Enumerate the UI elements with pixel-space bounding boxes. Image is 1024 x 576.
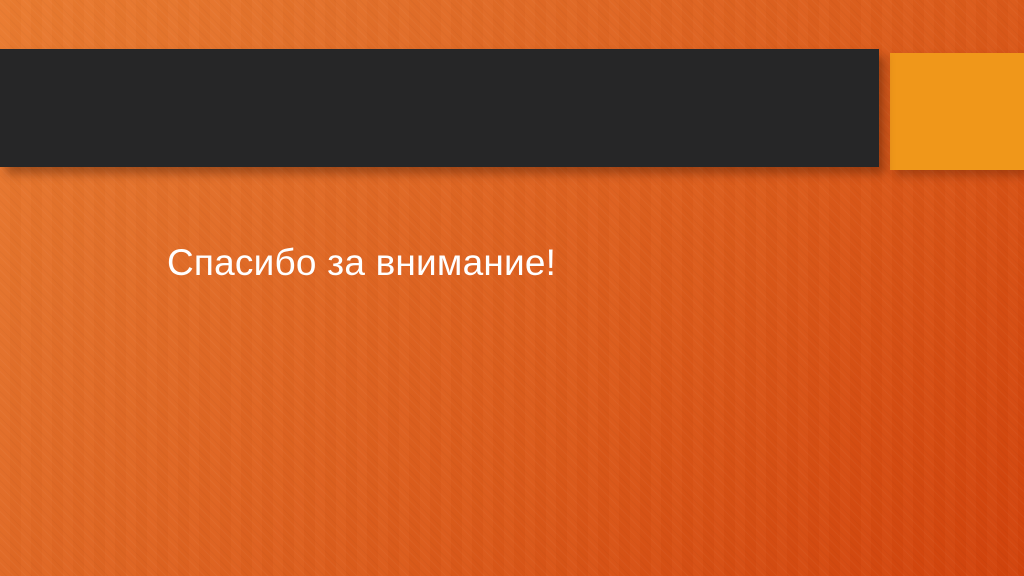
presentation-slide: Спасибо за внимание! xyxy=(0,0,1024,576)
dark-banner-bar xyxy=(0,49,879,167)
slide-title: Спасибо за внимание! xyxy=(167,240,867,286)
amber-accent-block xyxy=(890,53,1024,170)
